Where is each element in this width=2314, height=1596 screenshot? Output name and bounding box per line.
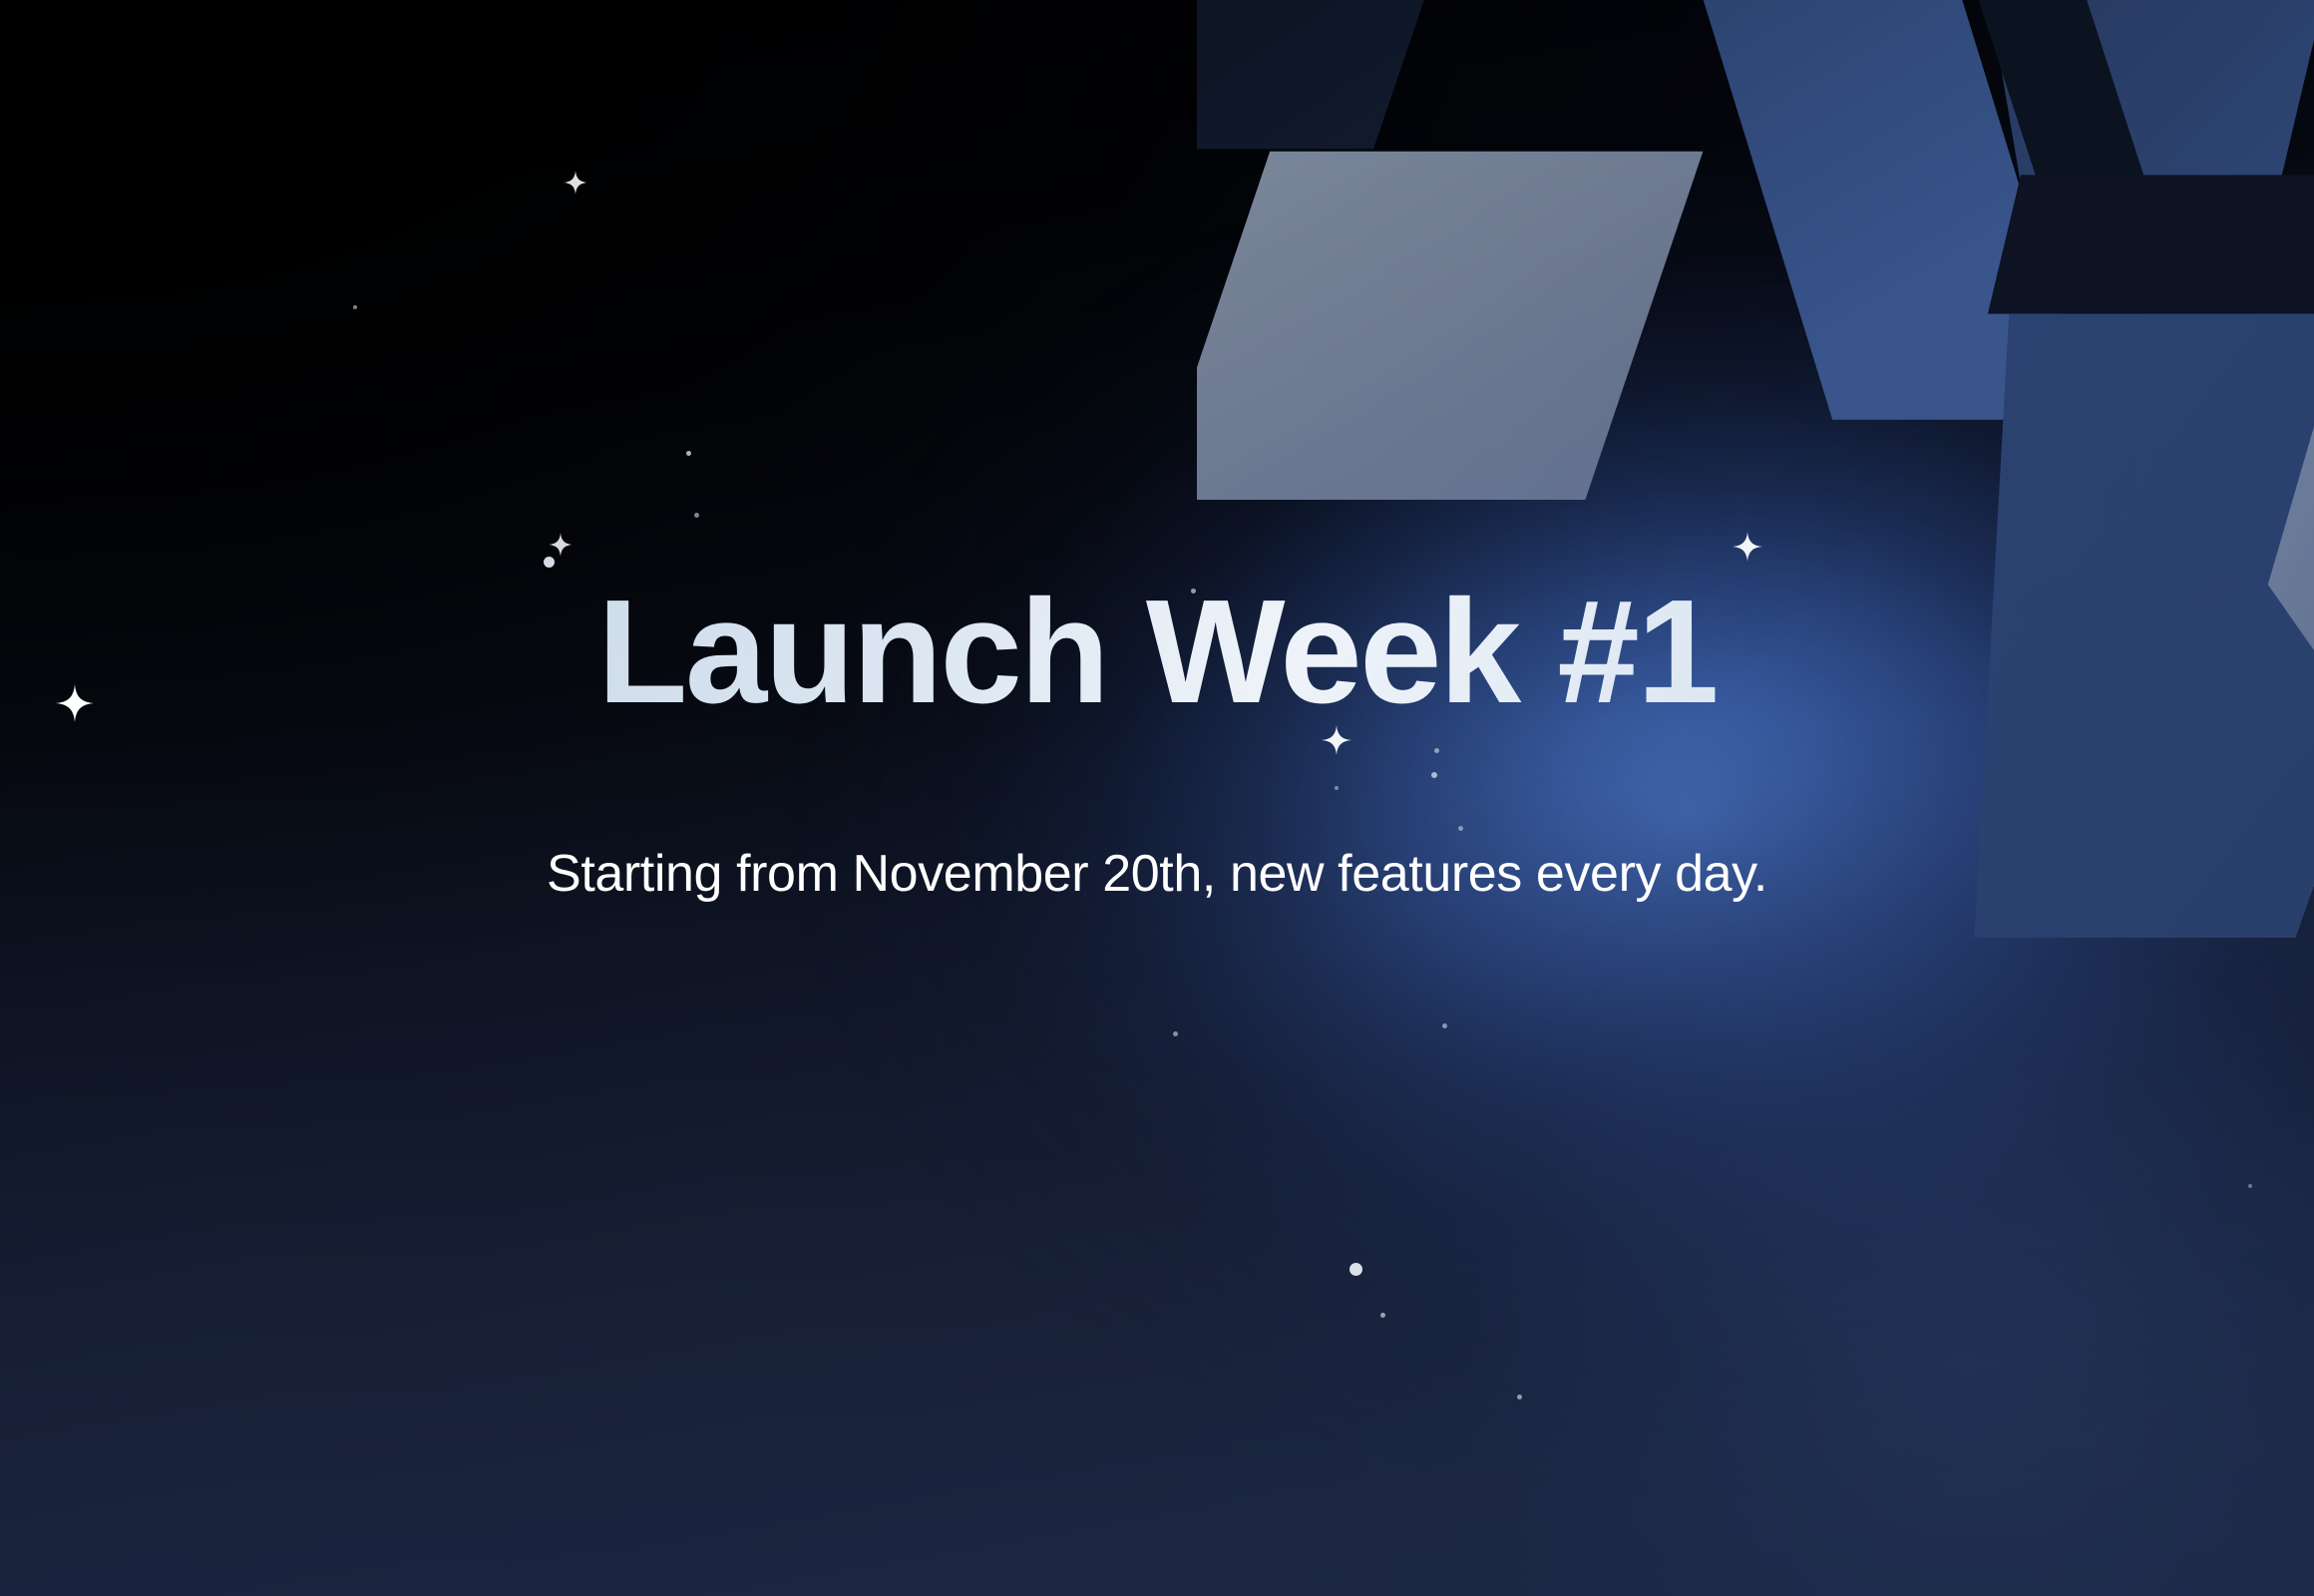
launch-week-hero: Launch Week #1 Starting from November 20… xyxy=(0,0,2314,1596)
headline-container: Launch Week #1 xyxy=(0,575,2314,731)
page-subtitle: Starting from November 20th, new feature… xyxy=(0,843,2314,905)
page-title: Launch Week #1 xyxy=(0,575,2314,731)
subheadline-container: Starting from November 20th, new feature… xyxy=(0,843,2314,905)
